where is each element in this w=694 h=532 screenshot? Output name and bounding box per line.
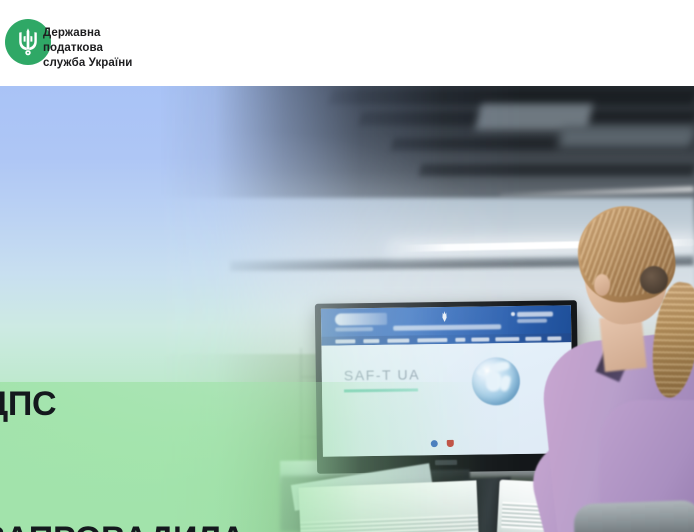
ceiling-beam (419, 164, 694, 176)
status-dot-icon (511, 312, 515, 316)
website-logo-subtext (335, 327, 373, 332)
title-underline (344, 388, 418, 392)
youtube-icon (447, 440, 454, 447)
headline-line-2: ЗАПРОВАДИЛА (0, 517, 245, 532)
computer-monitor: SAF-T UA (315, 300, 579, 474)
office-worker (560, 190, 694, 532)
website-header-link (517, 319, 547, 323)
ear (594, 274, 610, 296)
hero-photo: SAF-T UA (0, 86, 694, 532)
promo-banner: Державна податкова служба України (0, 0, 694, 532)
ceiling-fixture (558, 126, 694, 148)
headline-line-1: ДПС (0, 382, 245, 427)
trident-emblem-icon (441, 311, 448, 322)
brand-header: Державна податкова служба України (0, 0, 694, 86)
website-title-blur (393, 324, 501, 331)
social-icons (431, 440, 471, 451)
hero-headline: ДПС ЗАПРОВАДИЛА Е-АУДИТ (0, 292, 245, 532)
ceiling (0, 86, 694, 204)
facebook-icon (431, 440, 438, 447)
monitor-brand-logo (435, 460, 457, 465)
hair-tie (640, 266, 668, 294)
office-chair (573, 500, 694, 532)
monitor-screen: SAF-T UA (321, 305, 573, 456)
saft-ua-title: SAF-T UA (344, 366, 421, 383)
website-body: SAF-T UA (321, 342, 573, 456)
website-logo-icon (335, 313, 387, 326)
ceiling-beam (328, 90, 694, 104)
globe-icon (472, 357, 521, 406)
paper-stack-left (299, 480, 480, 532)
organization-name: Державна податкова служба України (43, 26, 132, 72)
website-header-link (517, 312, 553, 318)
